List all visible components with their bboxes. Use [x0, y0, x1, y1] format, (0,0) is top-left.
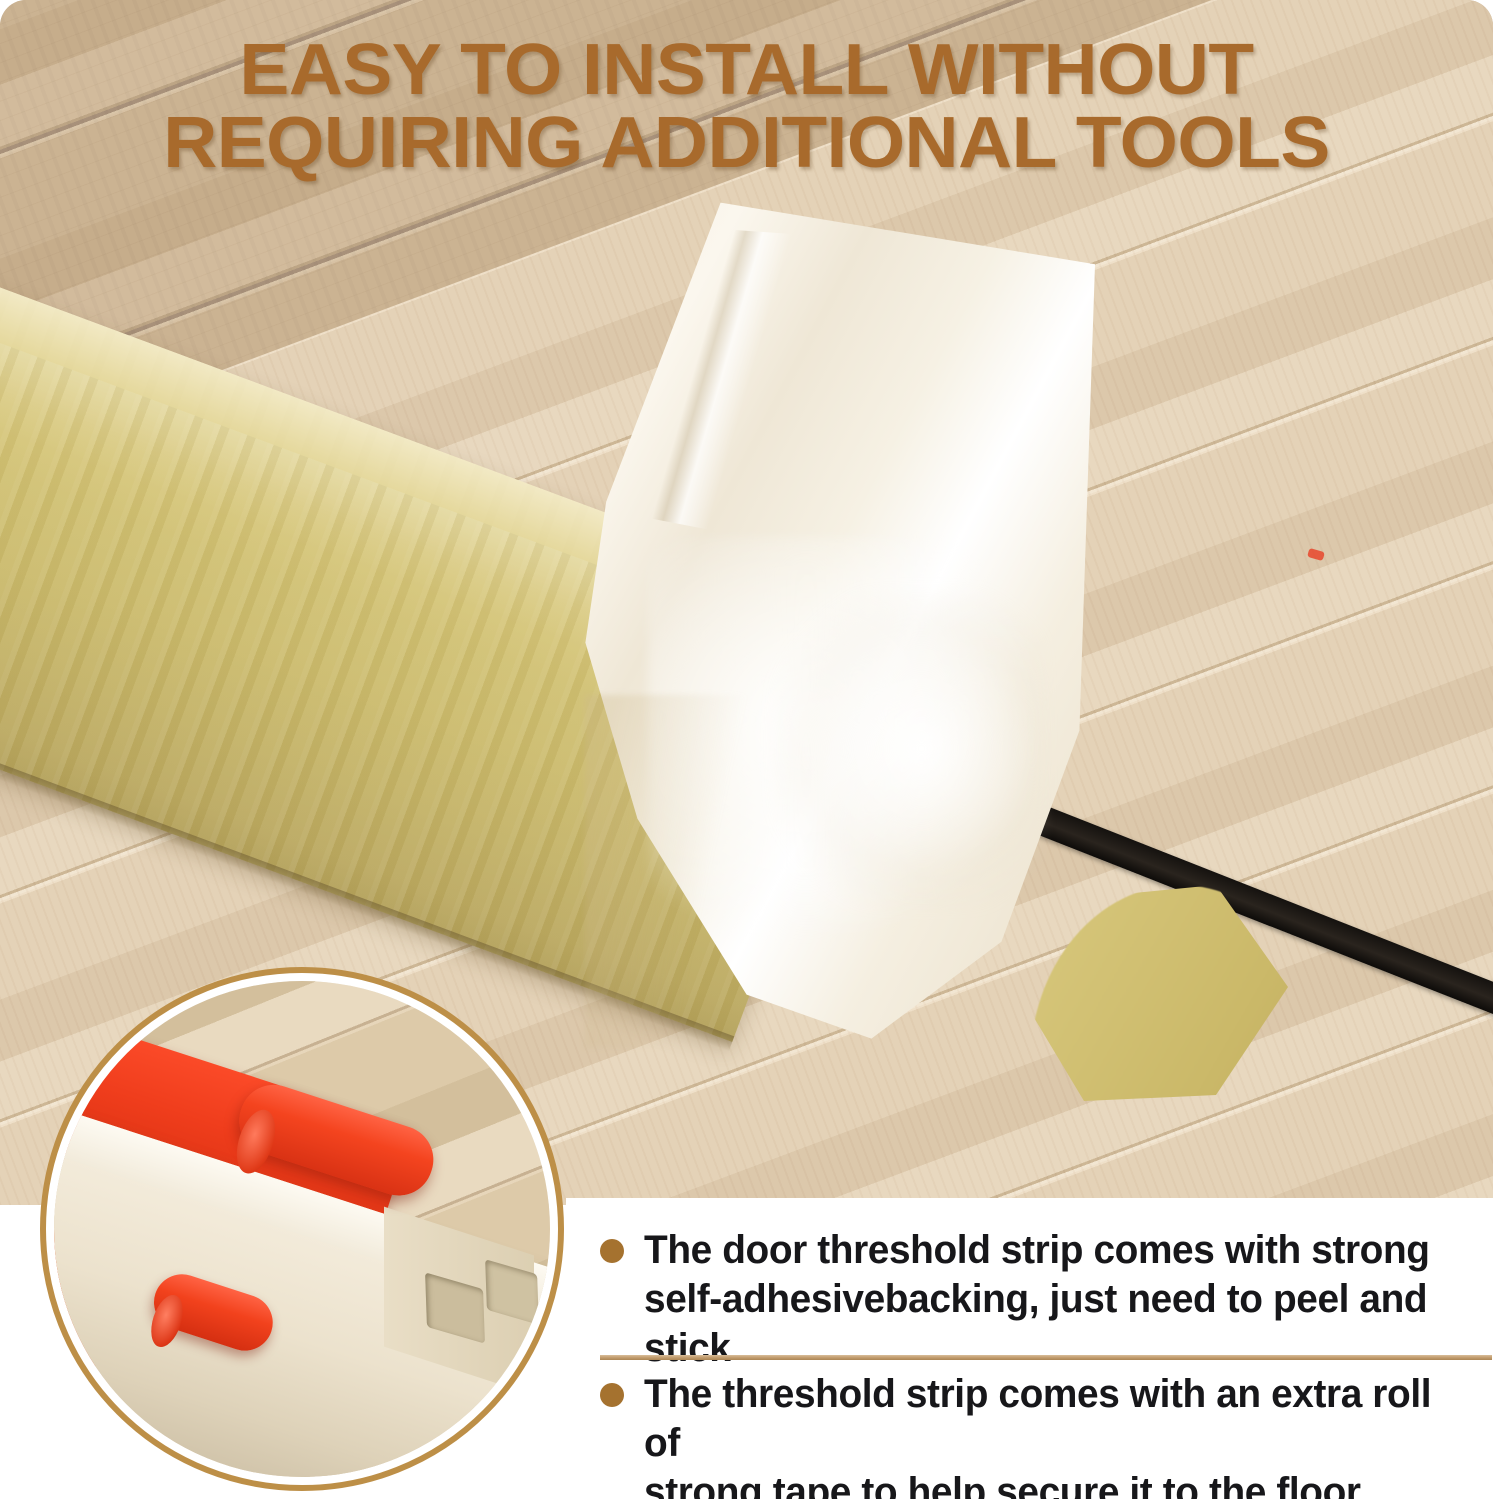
- inset-photo: [54, 981, 550, 1477]
- page-title: EASY TO INSTALL WITHOUT REQUIRING ADDITI…: [0, 34, 1493, 181]
- feature-item-2: The threshold strip comes with an extra …: [600, 1370, 1480, 1499]
- adhesive-backing-peel: [575, 185, 1095, 1065]
- bullet-dot-icon: [600, 1239, 624, 1263]
- bullet-dot-icon: [600, 1383, 624, 1407]
- backing-sheet: [575, 185, 1095, 1065]
- feature-item-1-text: The door threshold strip comes with stro…: [644, 1226, 1455, 1372]
- feature-item-2-text: The threshold strip comes with an extra …: [644, 1370, 1455, 1499]
- feature-item-1: The door threshold strip comes with stro…: [600, 1226, 1480, 1372]
- feature-list-panel: The door threshold strip comes with stro…: [566, 1198, 1500, 1499]
- detail-inset-circle: [40, 967, 564, 1491]
- product-infographic: EASY TO INSTALL WITHOUT REQUIRING ADDITI…: [0, 0, 1500, 1499]
- feature-divider: [600, 1355, 1492, 1360]
